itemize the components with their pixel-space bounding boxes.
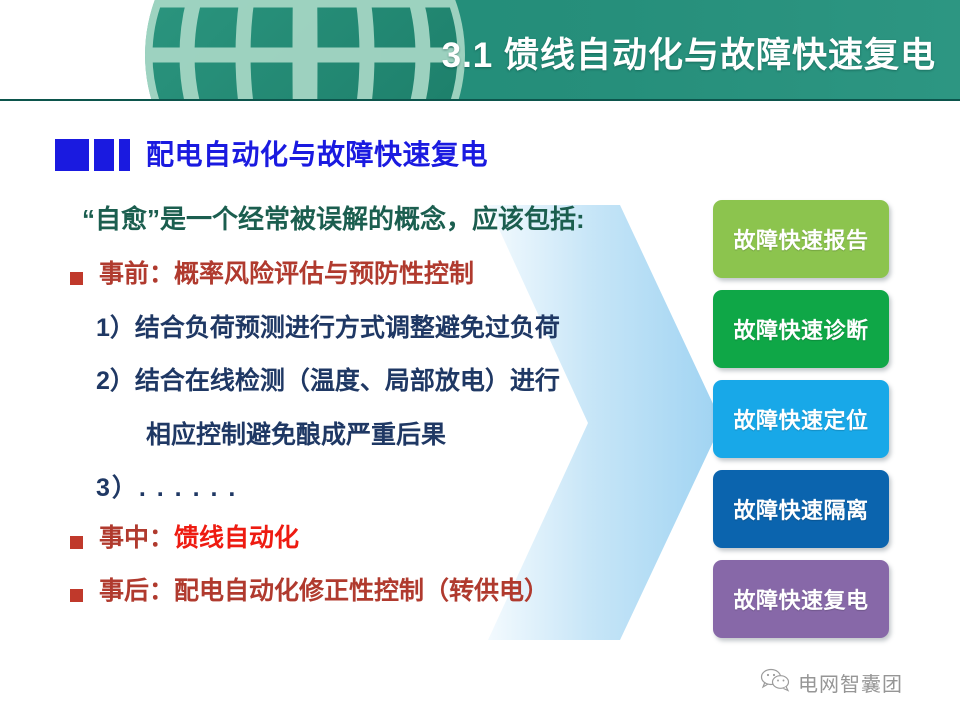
process-box-diagnose[interactable]: 故障快速诊断 [713,290,889,368]
globe-grid-icon [140,0,470,101]
watermark: 电网智囊团 [760,668,903,697]
list-item: 1）结合负荷预测进行方式调整避免过负荷 [96,315,670,343]
list-item: 2）结合在线检测（温度、局部放电）进行 [96,368,670,396]
header-rule [0,99,960,101]
bar-1 [55,139,89,171]
bullet-label: 事前： [99,260,174,288]
list-item-continuation: 相应控制避免酿成严重后果 [146,422,670,450]
square-bullet-icon [70,536,83,549]
three-bars-icon [55,139,130,171]
slide-header: 3.1 馈线自动化与故障快速复电 [0,0,960,101]
section-heading-label: 配电自动化与故障快速复电 [146,141,488,169]
bar-2 [94,139,114,171]
section-heading: 配电自动化与故障快速复电 [55,139,488,171]
process-box-restore[interactable]: 故障快速复电 [713,560,889,638]
bullet-emphasis: 配电自动化修正性控制（转供电） [174,577,549,605]
bullet-label: 事后： [99,577,174,605]
lead-statement: “自愈”是一个经常被误解的概念，应该包括: [82,206,670,232]
bar-3 [119,139,130,171]
bullet-label: 事中： [99,524,174,552]
bullet-emphasis: 概率风险评估与预防性控制 [174,260,474,288]
wechat-icon [760,668,790,697]
content-body: “自愈”是一个经常被误解的概念，应该包括: 事前：概率风险评估与预防性控制 1）… [70,206,670,632]
list-item: 事前：概率风险评估与预防性控制 [70,261,670,289]
list-item: 事后：配电自动化修正性控制（转供电） [70,578,670,606]
list-item: 3）. . . . . . [96,475,670,503]
process-box-locate[interactable]: 故障快速定位 [713,380,889,458]
list-item: 事中：馈线自动化 [70,525,670,553]
page-title: 3.1 馈线自动化与故障快速复电 [442,38,936,73]
bullet-emphasis: 馈线自动化 [174,524,299,552]
process-box-list: 故障快速报告 故障快速诊断 故障快速定位 故障快速隔离 故障快速复电 [713,200,889,650]
process-box-report[interactable]: 故障快速报告 [713,200,889,278]
process-box-isolate[interactable]: 故障快速隔离 [713,470,889,548]
square-bullet-icon [70,589,83,602]
slide: 3.1 馈线自动化与故障快速复电 配电自动化与故障快速复电 “自愈”是一个经常被… [0,0,960,720]
square-bullet-icon [70,272,83,285]
watermark-label: 电网智囊团 [798,668,903,697]
